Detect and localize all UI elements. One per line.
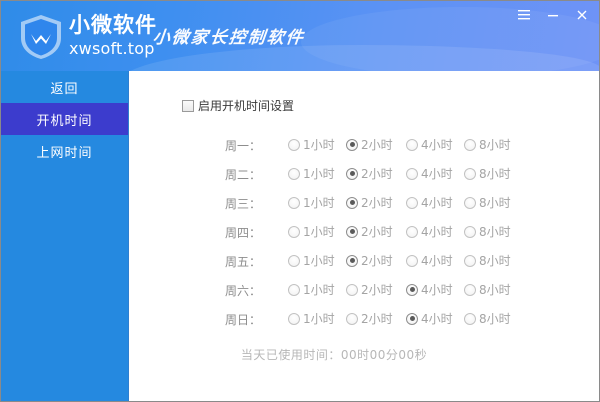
radio-icon[interactable] [406, 226, 418, 238]
radio-label: 1小时 [303, 252, 335, 269]
table-row: 周日： 1小时 2小时 4小时 8小时 [129, 305, 599, 334]
radio-icon[interactable] [288, 197, 300, 209]
radio-icon[interactable] [346, 197, 358, 209]
radio-label: 4小时 [421, 136, 453, 153]
enable-boot-time-label: 启用开机时间设置 [198, 97, 294, 114]
radio-option-mon-2h[interactable]: 2小时 [346, 136, 393, 153]
radio-label: 1小时 [303, 223, 335, 240]
radio-option-sat-2h[interactable]: 2小时 [346, 281, 393, 298]
radio-label: 4小时 [421, 281, 453, 298]
radio-option-fri-4h[interactable]: 4小时 [406, 252, 453, 269]
day-label: 周四： [225, 224, 277, 241]
radio-icon[interactable] [406, 284, 418, 296]
radio-option-thu-2h[interactable]: 2小时 [346, 223, 393, 240]
radio-option-tue-8h[interactable]: 8小时 [464, 165, 511, 182]
table-row: 周五： 1小时 2小时 4小时 8小时 [129, 247, 599, 276]
radio-label: 4小时 [421, 252, 453, 269]
close-icon[interactable] [569, 5, 595, 25]
radio-option-mon-8h[interactable]: 8小时 [464, 136, 511, 153]
radio-option-fri-8h[interactable]: 8小时 [464, 252, 511, 269]
radio-icon[interactable] [288, 168, 300, 180]
radio-label: 2小时 [361, 310, 393, 327]
day-label: 周二： [225, 166, 277, 183]
sidebar-item-back[interactable]: 返回 [1, 71, 128, 103]
radio-option-sun-1h[interactable]: 1小时 [288, 310, 335, 327]
radio-icon[interactable] [464, 226, 476, 238]
usage-status: 当天已使用时间：00时00分00秒 [129, 346, 599, 363]
radio-option-fri-2h[interactable]: 2小时 [346, 252, 393, 269]
radio-label: 1小时 [303, 165, 335, 182]
enable-boot-time-checkbox[interactable] [182, 100, 194, 112]
radio-option-wed-2h[interactable]: 2小时 [346, 194, 393, 211]
radio-icon[interactable] [464, 313, 476, 325]
window-controls [511, 5, 595, 25]
radio-option-tue-2h[interactable]: 2小时 [346, 165, 393, 182]
day-label: 周三： [225, 195, 277, 212]
sidebar: 返回 开机时间 上网时间 [1, 71, 129, 401]
radio-option-wed-1h[interactable]: 1小时 [288, 194, 335, 211]
radio-icon[interactable] [288, 226, 300, 238]
radio-icon[interactable] [406, 313, 418, 325]
radio-option-thu-1h[interactable]: 1小时 [288, 223, 335, 240]
radio-label: 8小时 [479, 310, 511, 327]
radio-icon[interactable] [288, 139, 300, 151]
radio-label: 4小时 [421, 223, 453, 240]
radio-icon[interactable] [288, 284, 300, 296]
radio-icon[interactable] [346, 313, 358, 325]
radio-option-sun-8h[interactable]: 8小时 [464, 310, 511, 327]
sidebar-item-label: 上网时间 [36, 142, 92, 161]
radio-icon[interactable] [406, 168, 418, 180]
radio-option-mon-4h[interactable]: 4小时 [406, 136, 453, 153]
weekday-schedule-list: 周一： 1小时 2小时 4小时 8小时 [129, 131, 599, 334]
radio-icon[interactable] [346, 139, 358, 151]
radio-label: 4小时 [421, 310, 453, 327]
radio-option-thu-4h[interactable]: 4小时 [406, 223, 453, 240]
radio-label: 4小时 [421, 194, 453, 211]
app-tagline: 小微家长控制软件 [152, 23, 307, 48]
radio-option-mon-1h[interactable]: 1小时 [288, 136, 335, 153]
radio-option-tue-4h[interactable]: 4小时 [406, 165, 453, 182]
radio-option-tue-1h[interactable]: 1小时 [288, 165, 335, 182]
usage-status-text: 当天已使用时间：00时00分00秒 [241, 348, 487, 362]
brand-name-en: xwsoft.top [69, 41, 157, 57]
title-bar: 小微软件 xwsoft.top 小微家长控制软件 [1, 1, 600, 71]
radio-icon[interactable] [346, 226, 358, 238]
sidebar-item-label: 返回 [50, 78, 78, 97]
brand-block: 小微软件 xwsoft.top [69, 15, 157, 57]
radio-icon[interactable] [464, 168, 476, 180]
table-row: 周四： 1小时 2小时 4小时 8小时 [129, 218, 599, 247]
header-decoration-curve [121, 45, 600, 71]
brand-name-cn: 小微软件 [69, 15, 157, 36]
radio-option-wed-8h[interactable]: 8小时 [464, 194, 511, 211]
radio-icon[interactable] [464, 139, 476, 151]
radio-label: 2小时 [361, 194, 393, 211]
enable-boot-time-checkbox-row[interactable]: 启用开机时间设置 [182, 97, 294, 114]
radio-label: 2小时 [361, 136, 393, 153]
radio-option-thu-8h[interactable]: 8小时 [464, 223, 511, 240]
radio-icon[interactable] [406, 255, 418, 267]
day-label: 周日： [225, 311, 277, 328]
radio-option-sun-2h[interactable]: 2小时 [346, 310, 393, 327]
radio-label: 2小时 [361, 281, 393, 298]
radio-label: 2小时 [361, 252, 393, 269]
day-label: 周一： [225, 137, 277, 154]
radio-option-sun-4h[interactable]: 4小时 [406, 310, 453, 327]
radio-label: 8小时 [479, 194, 511, 211]
radio-label: 8小时 [479, 136, 511, 153]
radio-label: 1小时 [303, 194, 335, 211]
radio-icon[interactable] [346, 255, 358, 267]
radio-label: 2小时 [361, 165, 393, 182]
content-panel: 启用开机时间设置 周一： 1小时 2小时 4小时 [129, 71, 599, 401]
table-row: 周一： 1小时 2小时 4小时 8小时 [129, 131, 599, 160]
table-row: 周三： 1小时 2小时 4小时 8小时 [129, 189, 599, 218]
minimize-icon[interactable] [540, 5, 566, 25]
radio-icon[interactable] [464, 284, 476, 296]
day-label: 周五： [225, 253, 277, 270]
radio-option-sat-4h[interactable]: 4小时 [406, 281, 453, 298]
radio-option-sat-1h[interactable]: 1小时 [288, 281, 335, 298]
radio-icon[interactable] [288, 255, 300, 267]
radio-label: 8小时 [479, 165, 511, 182]
radio-label: 4小时 [421, 165, 453, 182]
menu-icon[interactable] [511, 5, 537, 25]
radio-label: 8小时 [479, 281, 511, 298]
table-row: 周二： 1小时 2小时 4小时 8小时 [129, 160, 599, 189]
sidebar-item-internet-time[interactable]: 上网时间 [1, 135, 128, 167]
shield-logo-icon [19, 14, 63, 60]
radio-icon[interactable] [288, 313, 300, 325]
radio-label: 8小时 [479, 252, 511, 269]
radio-icon[interactable] [346, 168, 358, 180]
radio-label: 8小时 [479, 223, 511, 240]
app-window: 小微软件 xwsoft.top 小微家长控制软件 [0, 0, 600, 402]
radio-option-wed-4h[interactable]: 4小时 [406, 194, 453, 211]
radio-label: 1小时 [303, 281, 335, 298]
sidebar-item-label: 开机时间 [36, 110, 92, 129]
table-row: 周六： 1小时 2小时 4小时 8小时 [129, 276, 599, 305]
radio-icon[interactable] [406, 139, 418, 151]
day-label: 周六： [225, 282, 277, 299]
sidebar-item-boot-time[interactable]: 开机时间 [1, 103, 128, 135]
radio-icon[interactable] [346, 284, 358, 296]
radio-option-fri-1h[interactable]: 1小时 [288, 252, 335, 269]
radio-label: 2小时 [361, 223, 393, 240]
radio-icon[interactable] [406, 197, 418, 209]
radio-icon[interactable] [464, 197, 476, 209]
radio-label: 1小时 [303, 310, 335, 327]
radio-label: 1小时 [303, 136, 335, 153]
radio-option-sat-8h[interactable]: 8小时 [464, 281, 511, 298]
radio-icon[interactable] [464, 255, 476, 267]
